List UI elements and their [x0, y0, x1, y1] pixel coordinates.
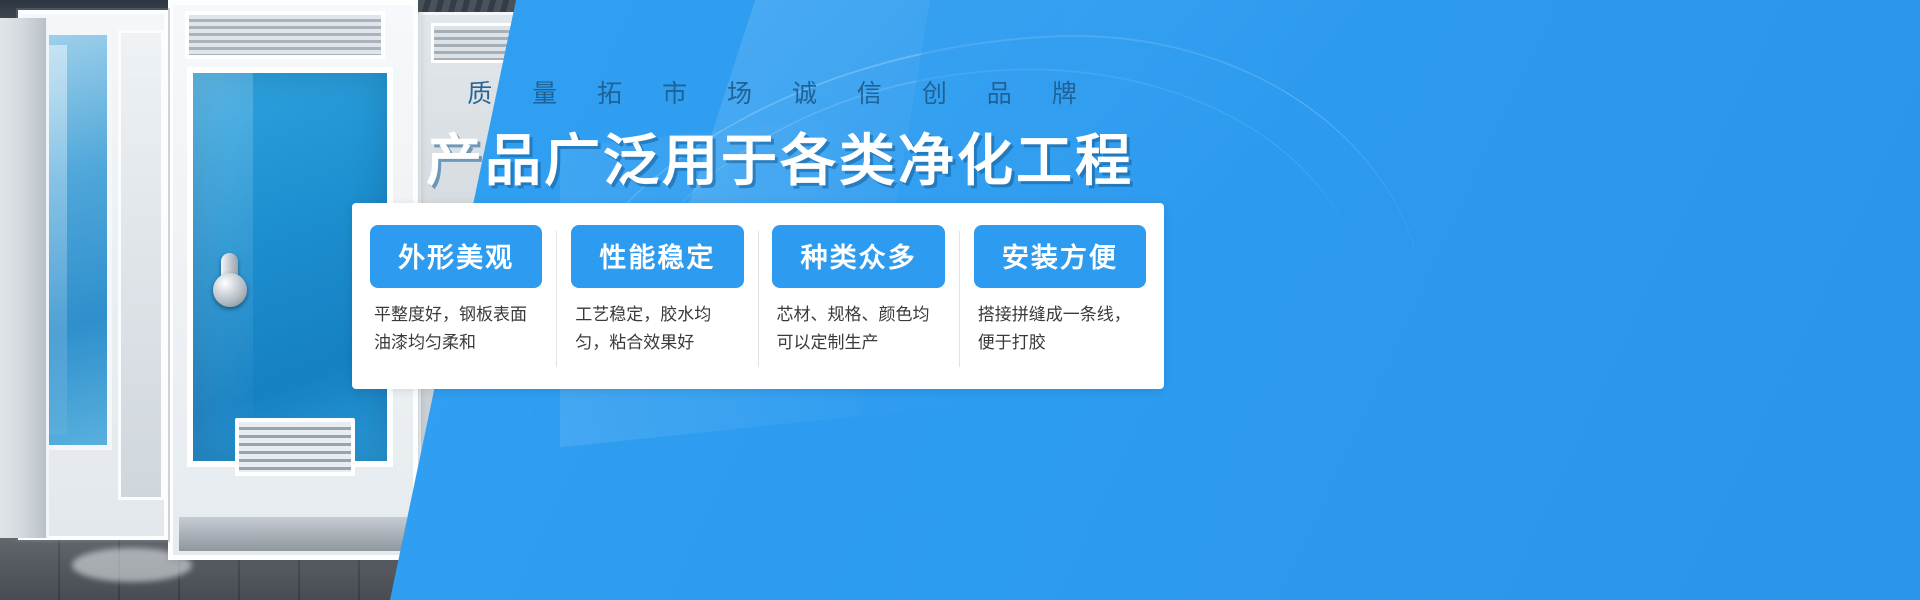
cabin-base: [179, 517, 407, 551]
banner-headline: 产品广泛用于各类净化工程: [0, 116, 1560, 197]
feature-card-1-title: 外形美观: [370, 225, 542, 288]
feature-card-strip: 外形美观 平整度好，钢板表面油漆均匀柔和 性能稳定 工艺稳定，胶水均匀，粘合效果…: [352, 203, 1164, 389]
feature-card-4[interactable]: 安装方便 搭接拼缝成一条线，便于打胶: [974, 225, 1146, 357]
feature-card-1[interactable]: 外形美观 平整度好，钢板表面油漆均匀柔和: [370, 225, 542, 357]
feature-card-2[interactable]: 性能稳定 工艺稳定，胶水均匀，粘合效果好: [571, 225, 743, 357]
card-divider-3: [959, 231, 960, 367]
promo-banner: 质 量 拓 市 场 诚 信 创 品 牌 产品广泛用于各类净化工程 外形美观 平整…: [0, 0, 1920, 600]
feature-card-2-title: 性能稳定: [571, 225, 743, 288]
cabin-top-louver: [185, 11, 385, 59]
feature-card-2-text: 工艺稳定，胶水均匀，粘合效果好: [571, 302, 743, 357]
banner-tagline: 质 量 拓 市 场 诚 信 创 品 牌: [0, 74, 1560, 110]
feature-card-4-text: 搭接拼缝成一条线，便于打胶: [974, 302, 1146, 357]
feature-card-3-title: 种类众多: [772, 225, 944, 288]
feature-card-1-text: 平整度好，钢板表面油漆均匀柔和: [370, 302, 542, 357]
door-bottom-vent: [235, 418, 355, 476]
door-lock-knob: [213, 273, 247, 307]
feature-card-3-text: 芯材、规格、颜色均可以定制生产: [772, 302, 944, 357]
feature-card-3[interactable]: 种类众多 芯材、规格、颜色均可以定制生产: [772, 225, 944, 357]
card-divider-1: [556, 231, 557, 367]
feature-card-4-title: 安装方便: [974, 225, 1146, 288]
card-divider-2: [758, 231, 759, 367]
